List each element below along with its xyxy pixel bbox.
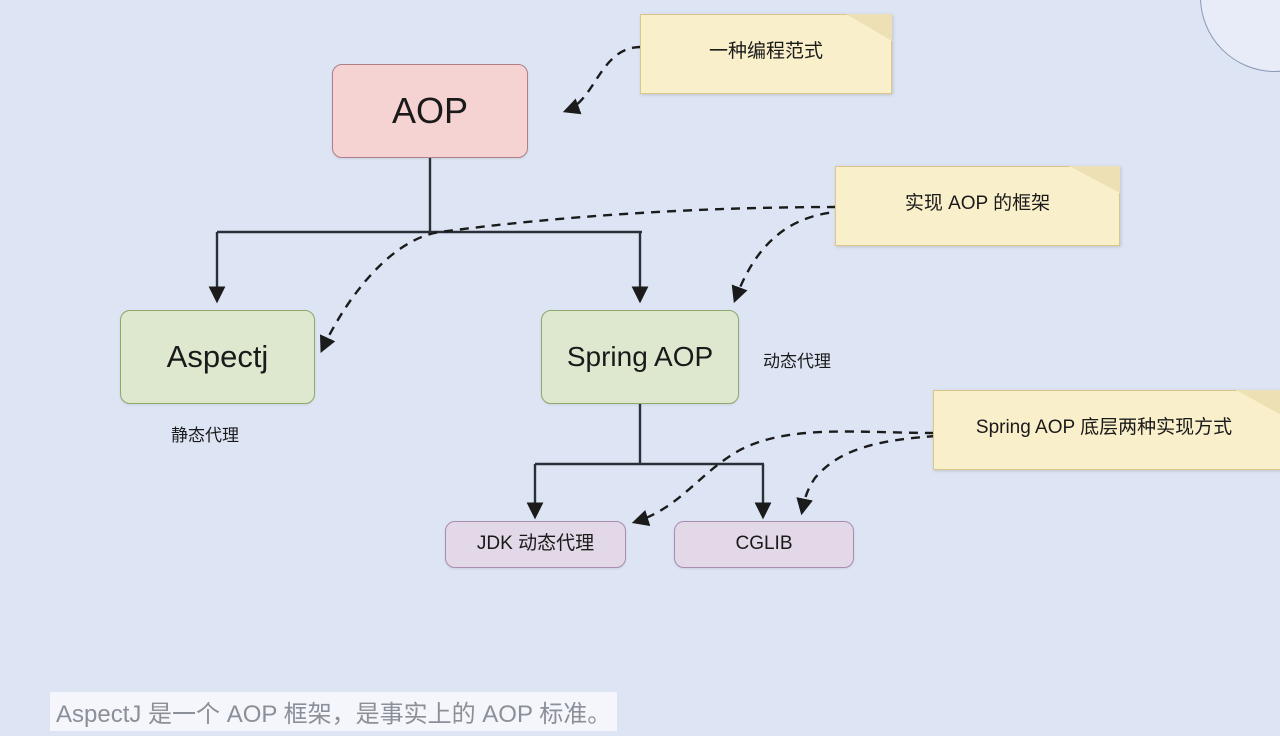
note-impl[interactable]: Spring AOP 底层两种实现方式 — [933, 390, 1280, 470]
note-framework[interactable]: 实现 AOP 的框架 — [835, 166, 1120, 246]
node-spring-aop-label: Spring AOP — [567, 342, 713, 373]
page-corner-arc — [1200, 0, 1280, 72]
node-cglib-label: CGLIB — [735, 534, 792, 555]
annotation-dynamic-proxy: 动态代理 — [763, 347, 831, 372]
node-jdk-proxy[interactable]: JDK 动态代理 — [445, 521, 626, 568]
note-paradigm-label: 一种编程范式 — [709, 36, 823, 63]
link-note-impl-cglib — [802, 436, 936, 512]
node-aspectj[interactable]: Aspectj — [120, 310, 315, 404]
node-jdk-proxy-label: JDK 动态代理 — [477, 534, 594, 555]
note-impl-label: Spring AOP 底层两种实现方式 — [976, 412, 1232, 439]
link-note-paradigm-aop — [566, 47, 641, 111]
node-spring-aop[interactable]: Spring AOP — [541, 310, 739, 404]
note-paradigm[interactable]: 一种编程范式 — [640, 14, 892, 94]
note-impl-fold — [1236, 390, 1280, 417]
annotation-static-proxy: 静态代理 — [171, 421, 239, 446]
link-note-framework-springaop — [735, 211, 845, 300]
node-cglib[interactable]: CGLIB — [674, 521, 854, 568]
node-aop-label: AOP — [392, 91, 468, 131]
note-framework-fold — [1069, 166, 1120, 193]
link-note-impl-jdk — [635, 431, 934, 522]
note-framework-label: 实现 AOP 的框架 — [905, 188, 1050, 215]
note-paradigm-fold — [846, 14, 892, 41]
node-aspectj-label: Aspectj — [167, 340, 269, 374]
node-aop[interactable]: AOP — [332, 64, 528, 158]
diagram-canvas: AOP Aspectj Spring AOP JDK 动态代理 CGLIB 一种… — [0, 0, 1280, 736]
caption-text: AspectJ 是一个 AOP 框架，是事实上的 AOP 标准。 — [50, 692, 617, 731]
